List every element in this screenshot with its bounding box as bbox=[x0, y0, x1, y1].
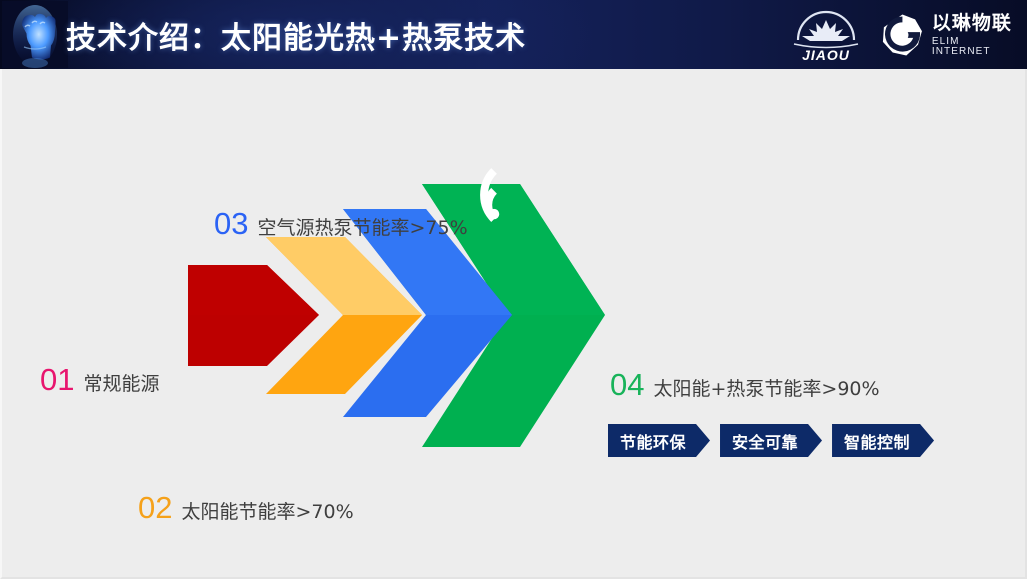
callout-step-02: 02 太阳能节能率>70% bbox=[138, 492, 354, 523]
callout-number-04: 04 bbox=[610, 369, 644, 400]
raised-fist-icon bbox=[2, 1, 68, 68]
callout-step-03: 03 空气源热泵节能率>75% bbox=[214, 208, 468, 239]
page-title: 技术介绍：太阳能光热+热泵技术 bbox=[66, 13, 526, 57]
slide-root: 技术介绍：太阳能光热+热泵技术 JIAOU 以琳物联 ELIM INTERNET bbox=[0, 0, 1027, 579]
elim-logo-cn: 以琳物联 bbox=[932, 14, 1020, 33]
callout-step-04: 04 太阳能+热泵节能率>90% bbox=[610, 369, 880, 400]
callout-label-02: 太阳能节能率>70% bbox=[181, 503, 353, 522]
chevron-step-01[interactable] bbox=[188, 265, 319, 366]
elim-g-mark-icon bbox=[880, 12, 925, 58]
badge-safe-reliable[interactable]: 安全可靠 bbox=[720, 424, 822, 457]
callout-label-03: 空气源热泵节能率>75% bbox=[257, 219, 467, 238]
callout-step-01: 01 常规能源 bbox=[40, 364, 160, 395]
svg-text:JIAOU: JIAOU bbox=[802, 47, 850, 63]
callout-number-01: 01 bbox=[40, 364, 74, 395]
badge-smart-control[interactable]: 智能控制 bbox=[832, 424, 934, 457]
callout-label-04: 太阳能+热泵节能率>90% bbox=[653, 380, 879, 399]
feature-badge-group: 节能环保 安全可靠 智能控制 bbox=[608, 424, 934, 457]
callout-label-01: 常规能源 bbox=[83, 375, 159, 394]
callout-number-03: 03 bbox=[214, 208, 248, 239]
slide-header: 技术介绍：太阳能光热+热泵技术 JIAOU 以琳物联 ELIM INTERNET bbox=[0, 0, 1027, 69]
slide-body: 01 常规能源 02 太阳能节能率>70% 03 空气源热泵节能率>75% 04… bbox=[0, 69, 1027, 579]
elim-logo: 以琳物联 ELIM INTERNET bbox=[880, 8, 1020, 62]
jiaou-logo: JIAOU bbox=[788, 6, 864, 64]
callout-number-02: 02 bbox=[138, 492, 172, 523]
elim-logo-en: ELIM INTERNET bbox=[932, 37, 1020, 57]
badge-energy-saving[interactable]: 节能环保 bbox=[608, 424, 710, 457]
